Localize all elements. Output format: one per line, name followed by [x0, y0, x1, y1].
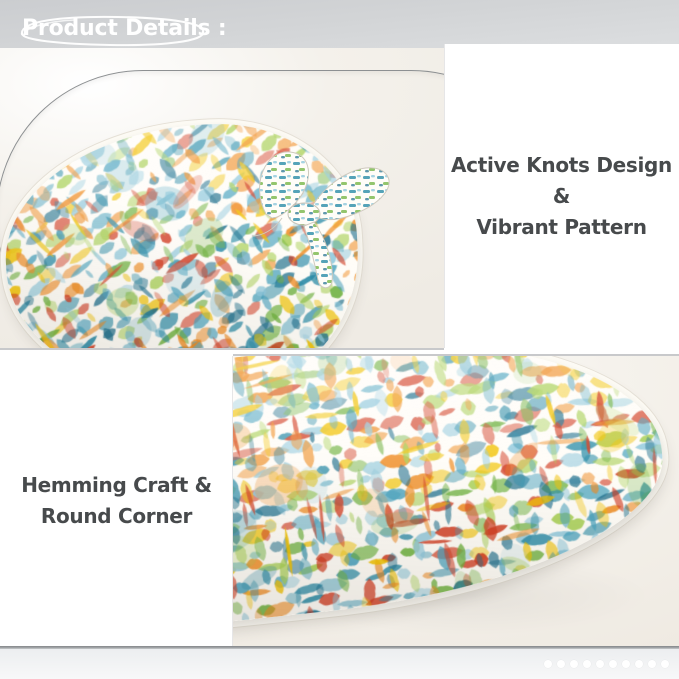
carousel-dot[interactable] [557, 660, 565, 668]
caption-panel-hemming-craft: Hemming Craft & Round Corner [0, 356, 233, 646]
product-photo-corner-detail [233, 356, 679, 646]
carousel-dot[interactable] [622, 660, 630, 668]
header-title-group: Product Details : [14, 14, 214, 48]
carousel-dot[interactable] [648, 660, 656, 668]
caption-line-1: Active Knots Design & [451, 153, 672, 208]
product-details-infographic: Product Details : [0, 0, 679, 679]
caption-panel-active-knots: Active Knots Design & Vibrant Pattern [444, 44, 679, 348]
panel-divider-vertical [444, 44, 445, 348]
header-band: Product Details : [0, 0, 679, 48]
caption-text-active-knots: Active Knots Design & Vibrant Pattern [444, 150, 679, 243]
page-title: Product Details : [22, 16, 227, 41]
carousel-dot[interactable] [544, 660, 552, 668]
panel-divider-horizontal-top [0, 348, 444, 350]
panel-divider-vertical [232, 356, 233, 646]
caption-line-1: Hemming Craft & [21, 473, 212, 497]
carousel-dot[interactable] [635, 660, 643, 668]
carousel-dot[interactable] [596, 660, 604, 668]
panel-divider-horizontal-bottom [233, 354, 679, 356]
caption-line-2: Vibrant Pattern [476, 215, 646, 239]
caption-line-2: Round Corner [41, 504, 192, 528]
product-photo-knot-detail [0, 48, 444, 348]
carousel-dot[interactable] [609, 660, 617, 668]
carousel-dot[interactable] [570, 660, 578, 668]
caption-text-hemming-craft: Hemming Craft & Round Corner [21, 470, 212, 532]
carousel-dots[interactable] [544, 660, 669, 668]
carousel-dot[interactable] [661, 660, 669, 668]
cushion-body-top [0, 117, 365, 348]
carousel-dot[interactable] [583, 660, 591, 668]
